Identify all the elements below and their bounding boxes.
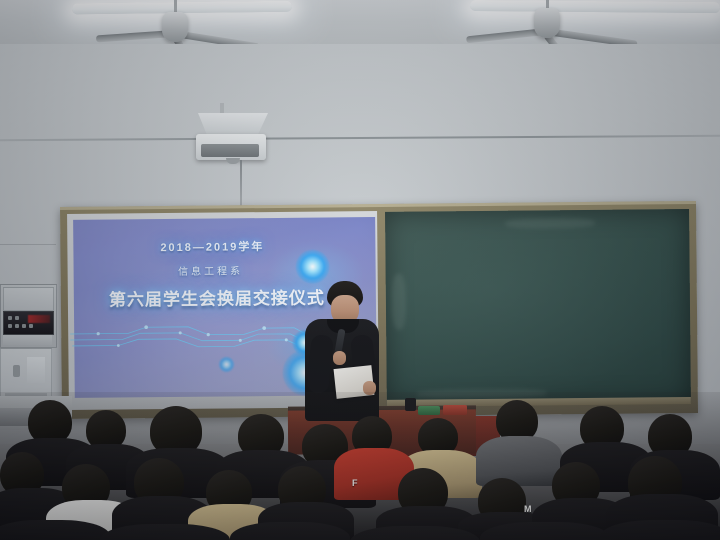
led-indicator — [28, 315, 50, 323]
seated-audience: F M — [0, 392, 720, 540]
blackboard — [385, 209, 691, 406]
audience-foreground — [480, 522, 610, 540]
panel-button[interactable] — [29, 324, 33, 328]
classroom-photo: 2018—2019学年 信息工程系 第六届学生会换届交接仪式 — [0, 0, 720, 540]
panel-button[interactable] — [15, 324, 19, 328]
dispenser-panel[interactable] — [27, 357, 45, 383]
ceiling-fan-right — [520, 4, 650, 46]
red-jacket-logo: F — [352, 478, 359, 488]
panel-button[interactable] — [15, 316, 19, 320]
wall-edge-line — [0, 244, 56, 245]
chalk-smudge — [392, 274, 407, 330]
panel-button[interactable] — [22, 324, 26, 328]
dispenser-tap[interactable] — [13, 365, 20, 377]
slide-department-text: 信息工程系 — [67, 261, 366, 279]
ceiling-projector — [196, 113, 270, 163]
control-panel-base — [3, 335, 52, 345]
panel-button[interactable] — [8, 324, 12, 328]
wall-control-panel[interactable] — [0, 284, 57, 348]
control-panel-display — [3, 311, 54, 335]
ceiling-fan-left — [150, 6, 270, 46]
projector-lens — [201, 144, 259, 157]
slide-glow-spot — [218, 356, 234, 372]
wall-seam-line — [0, 135, 720, 141]
chalk-smudge — [505, 218, 595, 229]
fan-hub — [162, 12, 188, 42]
audience-foreground — [600, 520, 720, 540]
grey-jacket — [476, 436, 562, 486]
fan-rod — [174, 0, 177, 12]
panel-button[interactable] — [8, 316, 12, 320]
dark-jacket-logo: M — [524, 504, 533, 514]
control-panel-upper-cover — [3, 287, 54, 311]
speaker-hand-mic — [333, 351, 346, 365]
audience-foreground — [230, 522, 350, 540]
audience-foreground — [0, 520, 110, 540]
projector-cable — [240, 160, 242, 208]
slide-year-text: 2018—2019学年 — [67, 237, 367, 256]
fan-hub — [534, 8, 560, 38]
